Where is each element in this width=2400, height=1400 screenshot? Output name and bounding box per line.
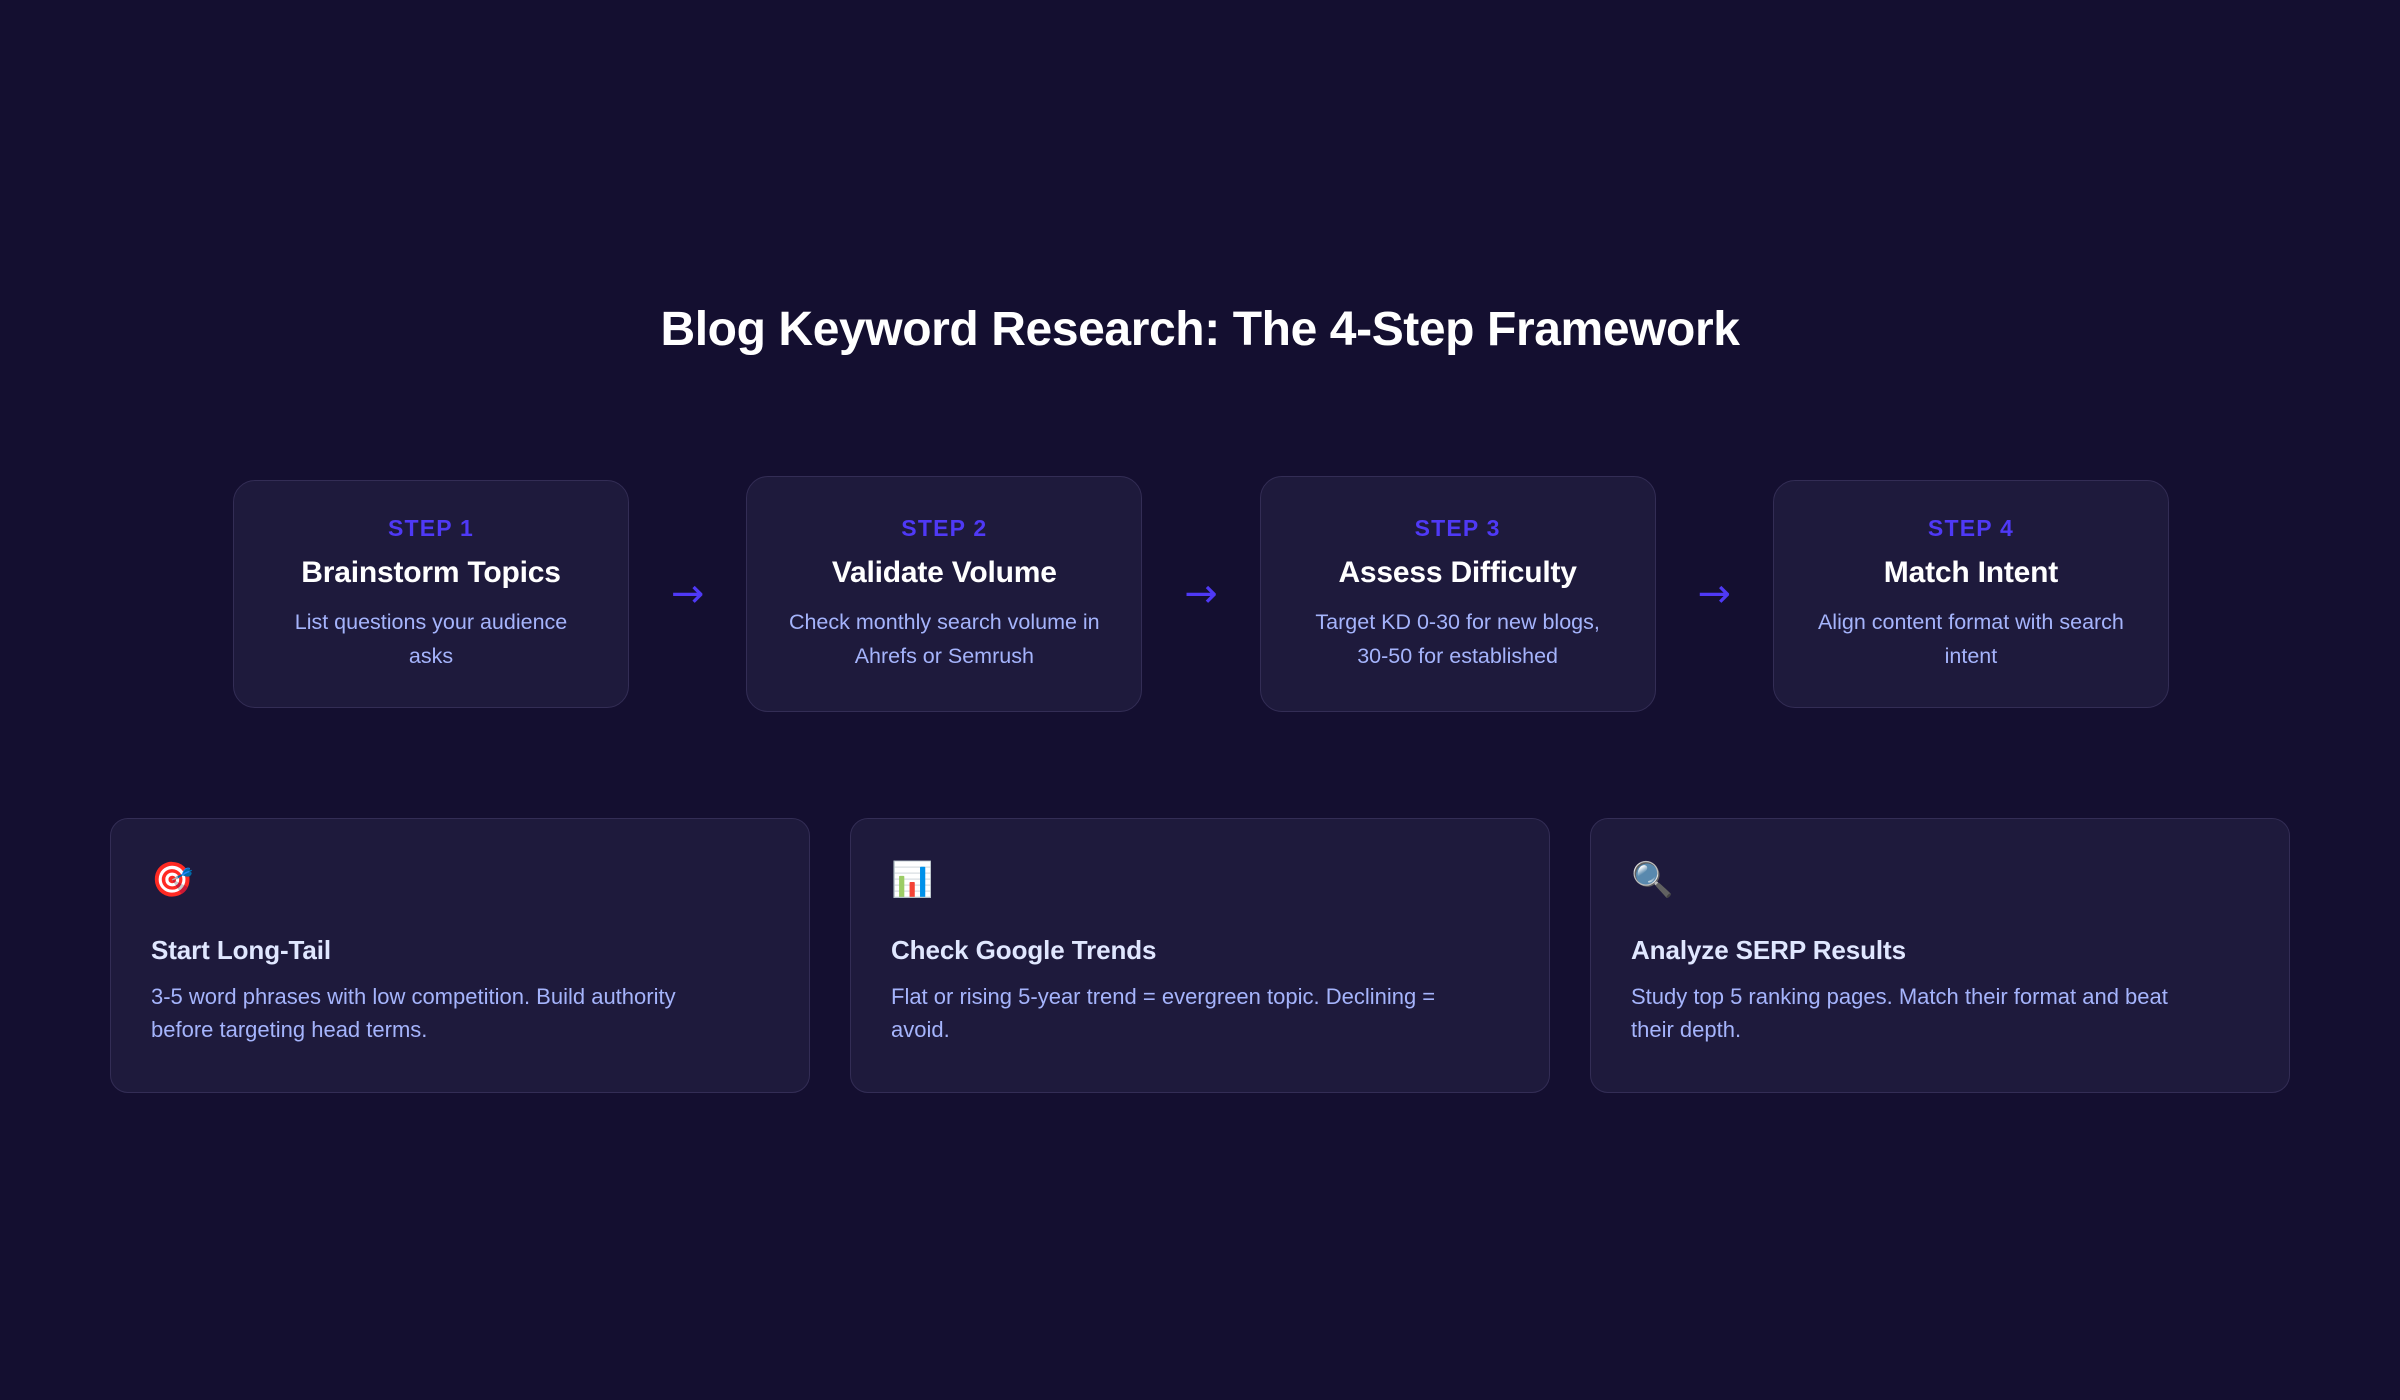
step-card-3[interactable]: STEP 3 Assess Difficulty Target KD 0-30 … (1260, 476, 1656, 712)
arrow-right-icon-2: → (1173, 574, 1229, 614)
tip-title: Check Google Trends (891, 935, 1509, 966)
step-description: Target KD 0-30 for new blogs, 30-50 for … (1298, 606, 1618, 673)
arrow-right-icon-3: → (1686, 574, 1742, 614)
step-label: STEP 2 (901, 515, 987, 542)
step-label: STEP 3 (1415, 515, 1501, 542)
magnifying-glass-icon: 🔍 (1631, 863, 2249, 897)
step-title: Assess Difficulty (1338, 556, 1576, 590)
step-title: Brainstorm Topics (301, 556, 560, 590)
bar-chart-icon: 📊 (891, 863, 1509, 897)
tip-description: Flat or rising 5-year trend = evergreen … (891, 980, 1471, 1046)
step-label: STEP 1 (388, 515, 474, 542)
page-title: Blog Keyword Research: The 4-Step Framew… (0, 302, 2400, 357)
tip-card-check-google-trends[interactable]: 📊 Check Google Trends Flat or rising 5-y… (850, 818, 1550, 1093)
target-icon: 🎯 (151, 863, 769, 897)
step-flow-row: STEP 1 Brainstorm Topics List questions … (233, 444, 2169, 744)
tip-card-analyze-serp-results[interactable]: 🔍 Analyze SERP Results Study top 5 ranki… (1590, 818, 2290, 1093)
tip-description: Study top 5 ranking pages. Match their f… (1631, 980, 2211, 1046)
step-description: Check monthly search volume in Ahrefs or… (784, 606, 1104, 673)
tips-row: 🎯 Start Long-Tail 3-5 word phrases with … (110, 818, 2290, 1093)
step-card-1[interactable]: STEP 1 Brainstorm Topics List questions … (233, 480, 629, 708)
step-card-2[interactable]: STEP 2 Validate Volume Check monthly sea… (746, 476, 1142, 712)
step-title: Validate Volume (832, 556, 1057, 590)
step-description: List questions your audience asks (271, 606, 591, 673)
tip-description: 3-5 word phrases with low competition. B… (151, 980, 731, 1046)
step-description: Align content format with search intent (1811, 606, 2131, 673)
step-label: STEP 4 (1928, 515, 2014, 542)
tip-title: Start Long-Tail (151, 935, 769, 966)
tip-title: Analyze SERP Results (1631, 935, 2249, 966)
infographic-canvas: Blog Keyword Research: The 4-Step Framew… (0, 0, 2400, 1400)
arrow-right-icon-1: → (660, 574, 716, 614)
tip-card-start-long-tail[interactable]: 🎯 Start Long-Tail 3-5 word phrases with … (110, 818, 810, 1093)
step-card-4[interactable]: STEP 4 Match Intent Align content format… (1773, 480, 2169, 708)
step-title: Match Intent (1884, 556, 2058, 590)
